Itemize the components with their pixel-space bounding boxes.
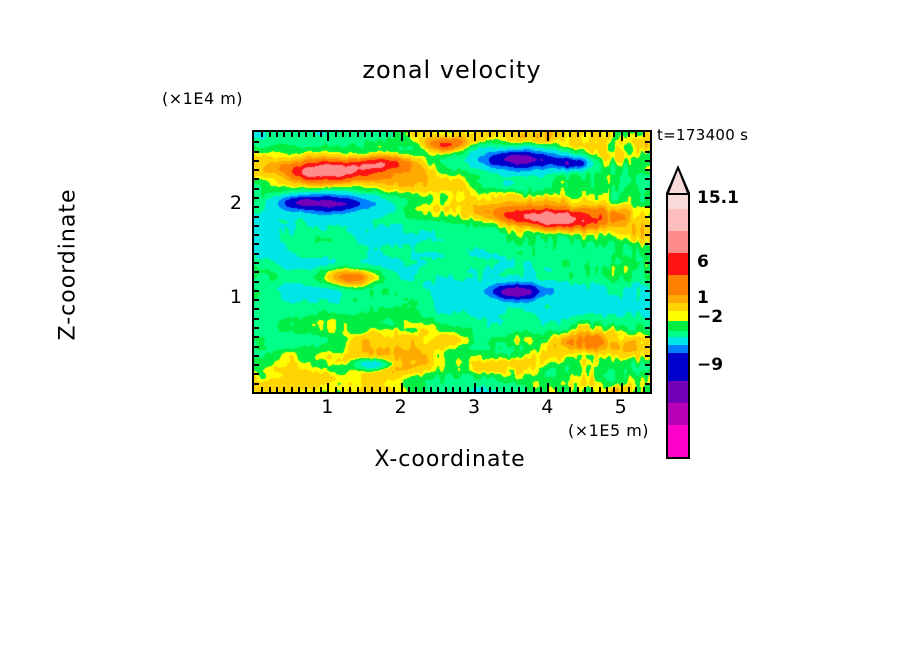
tick-mark [584, 132, 586, 137]
colorbar-band [668, 381, 688, 403]
tick-mark [430, 132, 432, 137]
tick-mark [386, 387, 388, 392]
tick-mark [645, 178, 650, 180]
tick-mark [254, 299, 259, 301]
tick-mark [452, 132, 454, 137]
x-axis-unit: (×1E5 m) [568, 421, 649, 440]
y-tick-label: 1 [212, 286, 242, 308]
colorbar-label: −9 [697, 355, 723, 375]
tick-mark [645, 141, 650, 143]
tick-mark [645, 243, 650, 245]
tick-mark [621, 132, 623, 141]
tick-mark [518, 132, 520, 137]
tick-mark [254, 383, 259, 385]
tick-mark [305, 132, 307, 137]
tick-mark [496, 132, 498, 137]
tick-mark [628, 387, 630, 392]
tick-mark [254, 160, 259, 162]
tick-mark [357, 132, 359, 137]
tick-mark [371, 387, 373, 392]
tick-mark [401, 383, 403, 392]
tick-mark [305, 387, 307, 392]
tick-mark [645, 271, 650, 273]
tick-mark [645, 364, 650, 366]
tick-mark [335, 387, 337, 392]
tick-mark [577, 132, 579, 137]
contour-plot-area [252, 130, 652, 394]
tick-mark [547, 132, 549, 141]
tick-mark [459, 132, 461, 137]
tick-mark [645, 281, 650, 283]
tick-mark [393, 132, 395, 137]
tick-mark [489, 387, 491, 392]
tick-mark [621, 383, 623, 392]
tick-mark [474, 383, 476, 392]
tick-mark [643, 387, 645, 392]
tick-mark [254, 234, 259, 236]
colorbar-band [668, 275, 688, 295]
tick-mark [628, 132, 630, 137]
tick-mark [474, 132, 476, 141]
tick-mark [283, 132, 285, 137]
tick-mark [481, 387, 483, 392]
tick-mark [254, 253, 259, 255]
tick-mark [591, 387, 593, 392]
tick-mark [408, 387, 410, 392]
tick-mark [254, 206, 259, 208]
tick-mark [408, 132, 410, 137]
colorbar-label: 6 [697, 252, 709, 272]
tick-mark [643, 132, 645, 137]
tick-mark [547, 383, 549, 392]
velocity-field-heatmap [254, 132, 650, 392]
x-tick-label: 4 [541, 396, 553, 418]
tick-mark [555, 387, 557, 392]
tick-mark [503, 132, 505, 137]
tick-mark [254, 169, 259, 171]
tick-mark [254, 346, 259, 348]
tick-mark [254, 373, 259, 375]
tick-mark [645, 373, 650, 375]
tick-mark [298, 132, 300, 137]
tick-mark [606, 132, 608, 137]
tick-mark [635, 132, 637, 137]
colorbar-band [668, 321, 688, 331]
colorbar-band [668, 311, 688, 321]
tick-mark [645, 197, 650, 199]
tick-mark [254, 336, 259, 338]
tick-mark [645, 253, 650, 255]
tick-mark [577, 387, 579, 392]
tick-mark [591, 132, 593, 137]
tick-mark [613, 387, 615, 392]
tick-mark [533, 387, 535, 392]
colorbar-band [668, 337, 688, 345]
colorbar-band [668, 231, 688, 253]
page-title: zonal velocity [0, 56, 904, 84]
y-axis-title: Z-coordinate [56, 135, 81, 395]
tick-mark [364, 132, 366, 137]
tick-mark [254, 290, 259, 292]
tick-mark [254, 178, 259, 180]
tick-mark [518, 387, 520, 392]
tick-mark [525, 132, 527, 137]
tick-mark [645, 216, 650, 218]
tick-mark [645, 169, 650, 171]
tick-mark [437, 387, 439, 392]
tick-mark [254, 355, 259, 357]
tick-mark [423, 387, 425, 392]
tick-mark [379, 387, 381, 392]
tick-mark [254, 225, 259, 227]
tick-mark [511, 132, 513, 137]
tick-mark [645, 299, 650, 301]
colorbar-bands [666, 193, 690, 459]
tick-mark [445, 387, 447, 392]
tick-mark [320, 387, 322, 392]
tick-mark [313, 387, 315, 392]
tick-mark [540, 387, 542, 392]
tick-mark [342, 132, 344, 137]
tick-mark [254, 141, 259, 143]
colorbar-band [668, 295, 688, 303]
tick-mark [503, 387, 505, 392]
tick-mark [540, 132, 542, 137]
tick-mark [481, 132, 483, 137]
colorbar-band [668, 345, 688, 353]
tick-mark [386, 132, 388, 137]
tick-mark [349, 132, 351, 137]
tick-mark [437, 132, 439, 137]
tick-mark [467, 387, 469, 392]
tick-mark [645, 151, 650, 153]
tick-mark [459, 387, 461, 392]
tick-mark [533, 132, 535, 137]
x-tick-label: 2 [395, 396, 407, 418]
tick-mark [645, 346, 650, 348]
tick-mark [496, 387, 498, 392]
colorbar-arrow-fill [669, 170, 687, 193]
tick-mark [276, 132, 278, 137]
tick-mark [371, 132, 373, 137]
tick-mark [320, 132, 322, 137]
tick-mark [261, 132, 263, 137]
colorbar-band [668, 209, 688, 231]
tick-mark [261, 387, 263, 392]
tick-mark [445, 132, 447, 137]
tick-mark [254, 216, 259, 218]
tick-mark [645, 336, 650, 338]
tick-mark [327, 383, 329, 392]
tick-mark [254, 364, 259, 366]
colorbar-label: 15.1 [697, 188, 739, 208]
tick-mark [562, 132, 564, 137]
tick-mark [645, 318, 650, 320]
tick-mark [584, 387, 586, 392]
tick-mark [364, 387, 366, 392]
tick-mark [645, 234, 650, 236]
time-stamp-label: t=173400 s [657, 126, 748, 144]
y-axis-tick-labels: 12 [212, 0, 242, 654]
tick-mark [254, 318, 259, 320]
tick-mark [635, 387, 637, 392]
tick-mark [525, 387, 527, 392]
tick-mark [313, 132, 315, 137]
tick-mark [291, 387, 293, 392]
tick-mark [645, 290, 650, 292]
tick-mark [254, 271, 259, 273]
tick-mark [327, 132, 329, 141]
colorbar-band [668, 195, 688, 209]
colorbar-band [668, 353, 688, 381]
tick-mark [645, 262, 650, 264]
colorbar-band [668, 303, 688, 311]
tick-mark [606, 387, 608, 392]
tick-mark [342, 387, 344, 392]
tick-mark [276, 387, 278, 392]
tick-mark [254, 262, 259, 264]
tick-mark [569, 132, 571, 137]
tick-mark [569, 387, 571, 392]
tick-mark [298, 387, 300, 392]
tick-mark [599, 387, 601, 392]
tick-mark [645, 383, 650, 385]
tick-mark [269, 387, 271, 392]
tick-mark [430, 387, 432, 392]
tick-mark [349, 387, 351, 392]
tick-mark [269, 132, 271, 137]
tick-mark [645, 355, 650, 357]
tick-mark [335, 132, 337, 137]
tick-mark [423, 132, 425, 137]
tick-mark [645, 160, 650, 162]
tick-mark [254, 308, 259, 310]
tick-mark [467, 132, 469, 137]
tick-mark [254, 151, 259, 153]
y-tick-label: 2 [212, 192, 242, 214]
tick-mark [645, 206, 650, 208]
tick-mark [452, 387, 454, 392]
colorbar-band [668, 425, 688, 457]
tick-mark [291, 132, 293, 137]
colorbar-label: 1 [697, 288, 709, 308]
tick-mark [555, 132, 557, 137]
tick-mark [254, 243, 259, 245]
tick-mark [415, 387, 417, 392]
tick-mark [599, 132, 601, 137]
tick-mark [283, 387, 285, 392]
x-tick-label: 1 [321, 396, 333, 418]
x-tick-label: 3 [468, 396, 480, 418]
tick-mark [613, 132, 615, 137]
tick-mark [401, 132, 403, 141]
x-tick-label: 5 [615, 396, 627, 418]
colorbar-label: −2 [697, 307, 723, 327]
tick-mark [254, 188, 259, 190]
tick-mark [645, 225, 650, 227]
tick-mark [393, 387, 395, 392]
x-axis-title: X-coordinate [252, 447, 648, 472]
tick-mark [562, 387, 564, 392]
tick-mark [254, 327, 259, 329]
tick-mark [645, 308, 650, 310]
colorbar-band [668, 403, 688, 425]
tick-mark [645, 188, 650, 190]
colorbar-band [668, 253, 688, 275]
tick-mark [645, 327, 650, 329]
tick-mark [415, 132, 417, 137]
tick-mark [254, 281, 259, 283]
tick-mark [254, 197, 259, 199]
tick-mark [379, 132, 381, 137]
tick-mark [511, 387, 513, 392]
tick-mark [489, 132, 491, 137]
tick-mark [357, 387, 359, 392]
